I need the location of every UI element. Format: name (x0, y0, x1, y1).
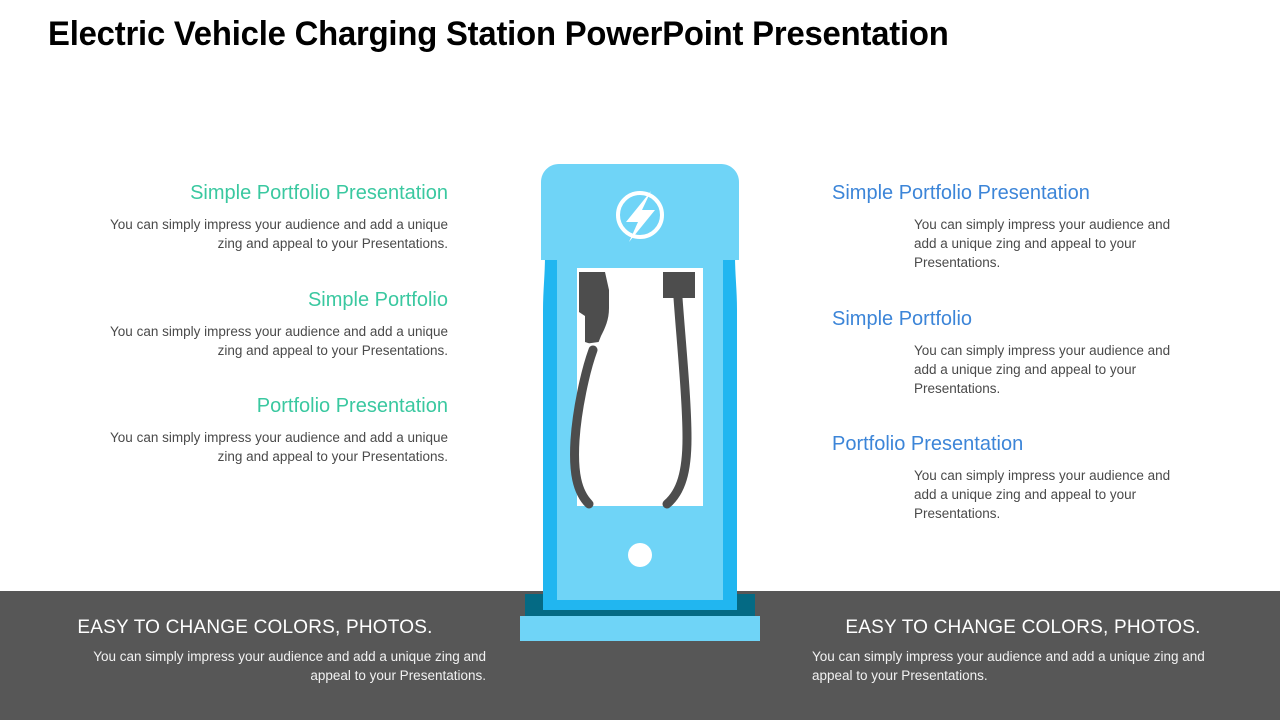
right-spacer-2 (832, 398, 1192, 431)
left-block-3: Portfolio Presentation You can simply im… (88, 393, 448, 466)
indicator-button (628, 543, 652, 567)
left-caption: EASY TO CHANGE COLORS, PHOTOS. You can s… (18, 615, 492, 685)
left-block-1-body: You can simply impress your audience and… (88, 215, 448, 253)
right-block-3: Portfolio Presentation You can simply im… (832, 431, 1192, 523)
right-caption: EASY TO CHANGE COLORS, PHOTOS. You can s… (786, 615, 1260, 685)
right-block-2-heading: Simple Portfolio (832, 306, 1192, 332)
left-spacer-1 (88, 253, 448, 287)
right-caption-body: You can simply impress your audience and… (786, 647, 1260, 685)
right-block-2: Simple Portfolio You can simply impress … (832, 306, 1192, 398)
right-block-3-body: You can simply impress your audience and… (914, 466, 1192, 523)
right-block-3-heading: Portfolio Presentation (832, 431, 1192, 457)
right-block-1-heading: Simple Portfolio Presentation (832, 180, 1192, 206)
right-block-2-body: You can simply impress your audience and… (914, 341, 1192, 398)
page-title: Electric Vehicle Charging Station PowerP… (48, 13, 1196, 55)
right-caption-heading: EASY TO CHANGE COLORS, PHOTOS. (786, 615, 1260, 641)
right-spacer-1 (832, 272, 1192, 306)
right-content-column: Simple Portfolio Presentation You can si… (832, 180, 1192, 523)
right-block-1-body: You can simply impress your audience and… (914, 215, 1192, 272)
ev-charging-station-illustration (505, 160, 775, 660)
left-block-2: Simple Portfolio You can simply impress … (88, 287, 448, 360)
left-block-3-body: You can simply impress your audience and… (88, 428, 448, 466)
left-caption-body: You can simply impress your audience and… (18, 647, 492, 685)
left-content-column: Simple Portfolio Presentation You can si… (88, 180, 448, 466)
left-block-3-heading: Portfolio Presentation (88, 393, 448, 419)
base-plate (520, 616, 760, 641)
left-block-1-heading: Simple Portfolio Presentation (88, 180, 448, 206)
presentation-slide: Electric Vehicle Charging Station PowerP… (0, 0, 1280, 720)
left-block-1: Simple Portfolio Presentation You can si… (88, 180, 448, 253)
right-block-1: Simple Portfolio Presentation You can si… (832, 180, 1192, 272)
left-spacer-2 (88, 360, 448, 393)
left-block-2-heading: Simple Portfolio (88, 287, 448, 313)
left-block-2-body: You can simply impress your audience and… (88, 322, 448, 360)
left-caption-heading: EASY TO CHANGE COLORS, PHOTOS. (18, 615, 492, 641)
